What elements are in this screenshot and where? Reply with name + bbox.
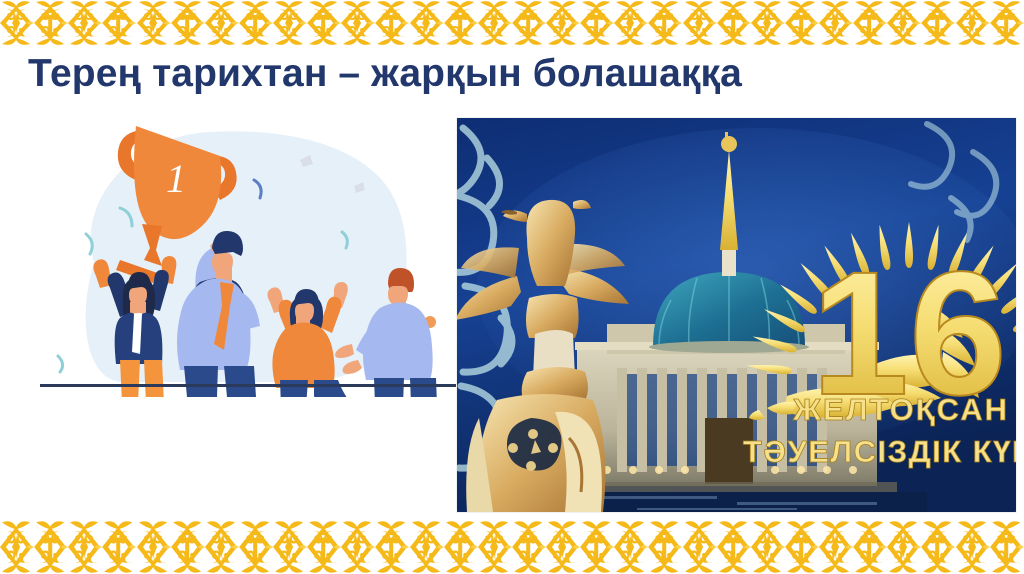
ornament-motif <box>887 0 955 46</box>
page-title: Терең тарихтан – жарқын болашаққа <box>28 52 988 97</box>
ornament-motif <box>546 520 614 574</box>
ornament-motif <box>205 0 273 46</box>
ornament-motif <box>956 520 1024 574</box>
ornament-motif <box>751 520 819 574</box>
ornament-motif <box>887 520 955 574</box>
ornament-motif <box>478 0 546 46</box>
headline-subtitle: ТӘУЕЛСІЗДІК КҮНІ <box>743 434 1016 469</box>
ornament-motif <box>683 520 751 574</box>
slide-root: Терең тарихтан – жарқын болашаққа <box>0 0 1024 574</box>
ornament-motif <box>546 0 614 46</box>
ornament-motif <box>68 520 136 574</box>
ornament-motif <box>614 520 682 574</box>
ornament-motif <box>68 0 136 46</box>
ornament-motif <box>273 0 341 46</box>
ornament-motif <box>137 0 205 46</box>
ornament-motif <box>273 520 341 574</box>
ornament-motif <box>819 520 887 574</box>
ornament-motif <box>683 0 751 46</box>
headline-month: ЖЕЛТОҚСАН <box>792 392 1009 427</box>
ornament-border-top <box>0 0 1024 46</box>
ornament-motif <box>205 520 273 574</box>
kazakhstan-independence-day-card: 16 ЖЕЛТОҚСАН ТӘУЕЛСІЗДІК КҮНІ <box>457 118 1016 512</box>
ornament-motif <box>410 0 478 46</box>
ornament-motif <box>751 0 819 46</box>
ornament-motif <box>956 0 1024 46</box>
ornament-strip-top <box>0 0 1024 46</box>
ornament-border-bottom <box>0 520 1024 574</box>
ornament-motif <box>0 0 68 46</box>
ornament-motif <box>137 520 205 574</box>
ornament-motif <box>614 0 682 46</box>
trophy-number: 1 <box>166 156 186 201</box>
ornament-motif <box>341 0 409 46</box>
ornament-motif <box>819 0 887 46</box>
ground-line <box>40 384 456 387</box>
ornament-motif <box>478 520 546 574</box>
ornament-motif <box>0 520 68 574</box>
ornament-strip-bottom <box>0 520 1024 574</box>
team-celebration-illustration: 1 <box>24 112 456 397</box>
ornament-motif <box>410 520 478 574</box>
ornament-motif <box>341 520 409 574</box>
